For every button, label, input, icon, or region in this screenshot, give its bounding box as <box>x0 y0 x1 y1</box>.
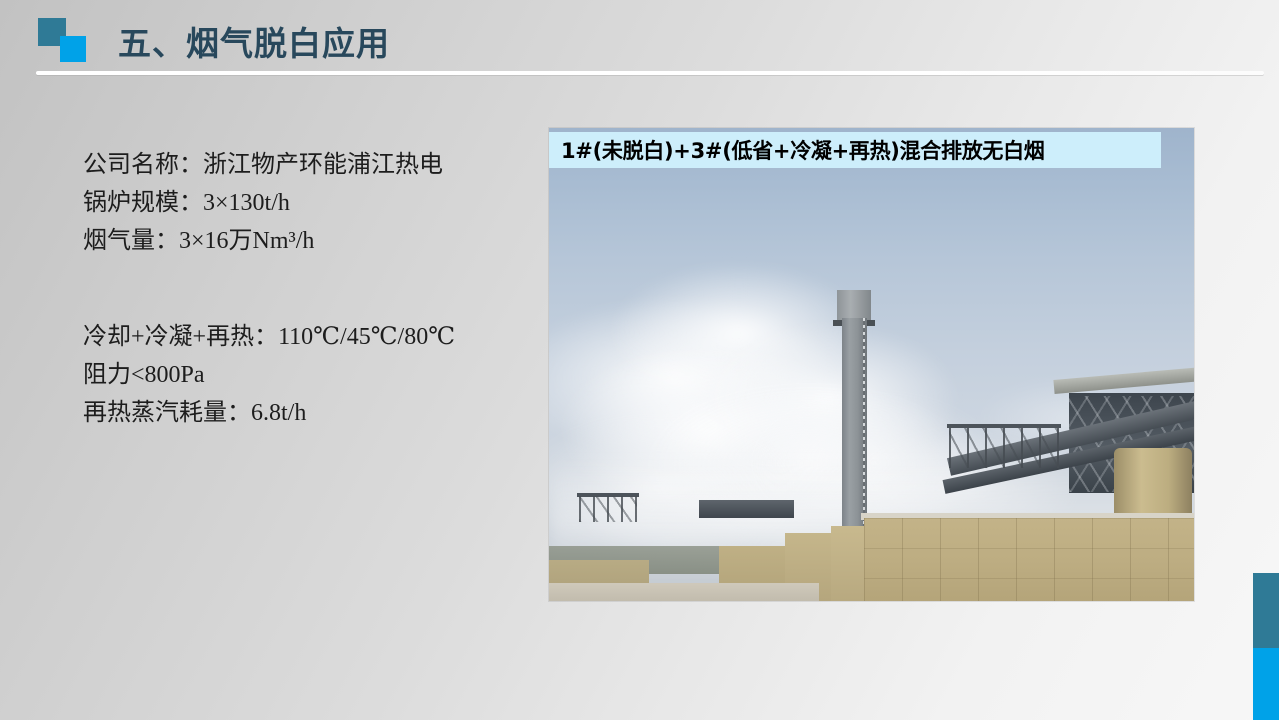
info-line-flue-gas-volume: 烟气量：3×16万Nm³/h <box>83 222 513 260</box>
gantry-left-frame <box>579 496 637 522</box>
info-block-process: 冷却+冷凝+再热：110℃/45℃/80℃ 阻力<800Pa 再热蒸汽耗量：6.… <box>83 318 513 432</box>
title-divider <box>36 71 1264 75</box>
corner-accent-bar-bottom <box>1253 648 1279 720</box>
page-title: 五、烟气脱白应用 <box>118 17 390 65</box>
info-line-boiler-scale: 锅炉规模：3×130t/h <box>83 184 513 222</box>
roof-equipment <box>699 500 794 518</box>
info-line-resistance: 阻力<800Pa <box>83 356 513 394</box>
decoration-square-light-icon <box>60 36 86 62</box>
corner-accent-bar <box>1253 573 1279 720</box>
info-block-company: 公司名称：浙江物产环能浦江热电 锅炉规模：3×130t/h 烟气量：3×16万N… <box>83 146 513 260</box>
slide-header: 五、烟气脱白应用 <box>0 0 1279 80</box>
info-line-reheat-steam-consumption: 再热蒸汽耗量：6.8t/h <box>83 394 513 432</box>
info-line-company-name: 公司名称：浙江物产环能浦江热电 <box>83 146 513 184</box>
chimney-stack-photo: 1#(未脱白)+3#(低省+冷凝+再热)混合排放无白烟 <box>549 128 1194 601</box>
photo-sky-background <box>549 128 1194 601</box>
info-panel: 公司名称：浙江物产环能浦江热电 锅炉规模：3×130t/h 烟气量：3×16万N… <box>83 146 513 432</box>
photo-caption-banner: 1#(未脱白)+3#(低省+冷凝+再热)混合排放无白烟 <box>549 132 1161 168</box>
main-building-wall <box>864 518 1194 601</box>
gantry-mid-frame <box>949 428 1059 468</box>
low-wall-foreground <box>549 583 819 601</box>
info-line-cooling-condensing-reheat: 冷却+冷凝+再热：110℃/45℃/80℃ <box>83 318 513 356</box>
corner-accent-bar-top <box>1253 573 1279 648</box>
photo-caption-text: 1#(未脱白)+3#(低省+冷凝+再热)混合排放无白烟 <box>561 135 1045 165</box>
